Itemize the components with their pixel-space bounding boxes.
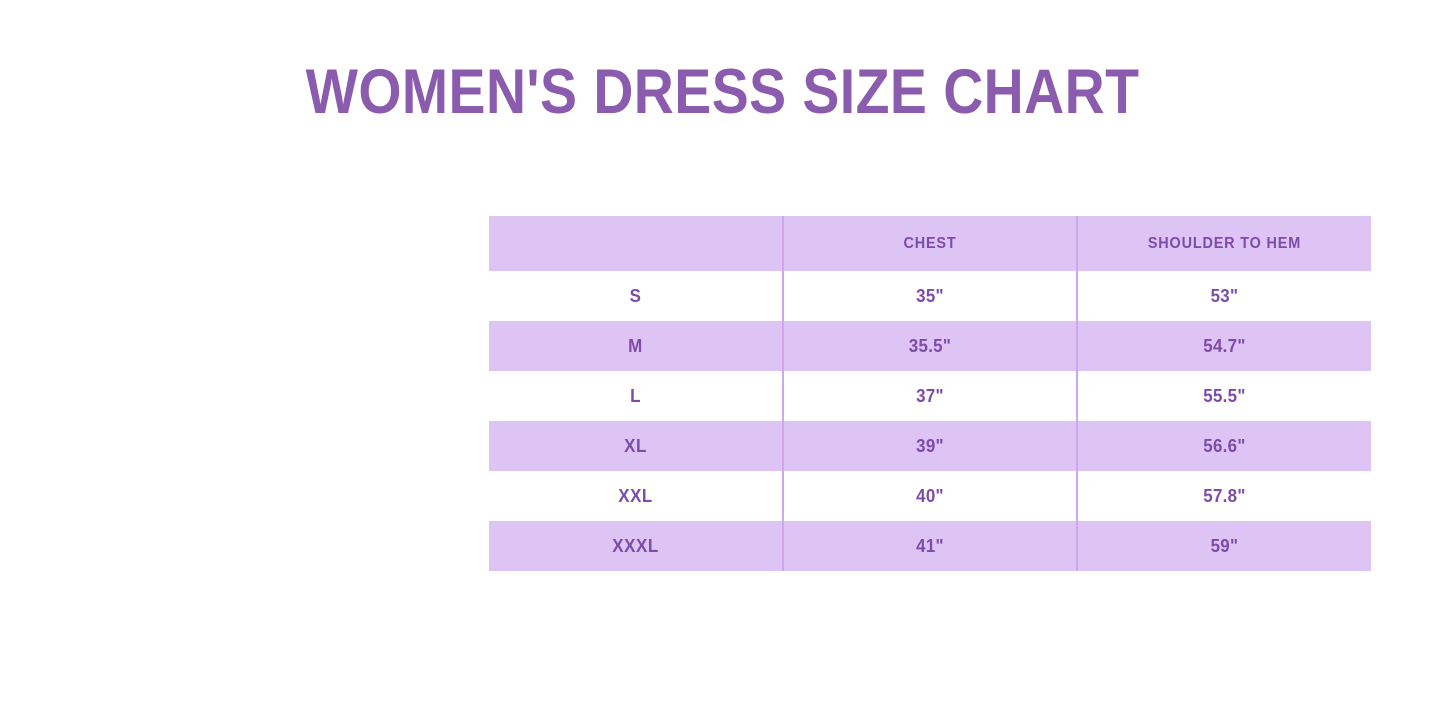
- cell-chest: 41": [792, 521, 1068, 571]
- column-header-chest: CHEST: [793, 216, 1066, 271]
- table-header-row: CHEST SHOULDER TO HEM: [489, 216, 1371, 271]
- size-chart-table-container: CHEST SHOULDER TO HEM S 35" 53" M 35.5" …: [489, 216, 1371, 566]
- cell-shoulder-to-hem: 57.8": [1086, 471, 1362, 521]
- cell-shoulder-to-hem: 56.6": [1086, 421, 1362, 471]
- cell-size: M: [498, 321, 774, 371]
- column-header-size: [499, 216, 772, 271]
- table-row: XXL 40" 57.8": [489, 471, 1371, 521]
- cell-chest: 39": [792, 421, 1068, 471]
- cell-shoulder-to-hem: 55.5": [1086, 371, 1362, 421]
- cell-shoulder-to-hem: 53": [1086, 271, 1362, 321]
- table-header: CHEST SHOULDER TO HEM: [489, 216, 1371, 271]
- cell-size: S: [498, 271, 774, 321]
- page-title: WOMEN'S DRESS SIZE CHART: [87, 57, 1359, 127]
- cell-chest: 35": [792, 271, 1068, 321]
- table-row: L 37" 55.5": [489, 371, 1371, 421]
- table-row: XXXL 41" 59": [489, 521, 1371, 571]
- table-row: M 35.5" 54.7": [489, 321, 1371, 371]
- table-row: S 35" 53": [489, 271, 1371, 321]
- cell-shoulder-to-hem: 59": [1086, 521, 1362, 571]
- cell-shoulder-to-hem: 54.7": [1086, 321, 1362, 371]
- cell-chest: 37": [792, 371, 1068, 421]
- cell-size: XXXL: [498, 521, 774, 571]
- table-body: S 35" 53" M 35.5" 54.7" L 37" 55.5" XL 3…: [489, 271, 1371, 571]
- cell-size: L: [498, 371, 774, 421]
- size-chart-table: CHEST SHOULDER TO HEM S 35" 53" M 35.5" …: [489, 216, 1371, 571]
- table-row: XL 39" 56.6": [489, 421, 1371, 471]
- cell-chest: 40": [792, 471, 1068, 521]
- column-header-shoulder-to-hem: SHOULDER TO HEM: [1087, 216, 1360, 271]
- cell-size: XL: [498, 421, 774, 471]
- cell-size: XXL: [498, 471, 774, 521]
- cell-chest: 35.5": [792, 321, 1068, 371]
